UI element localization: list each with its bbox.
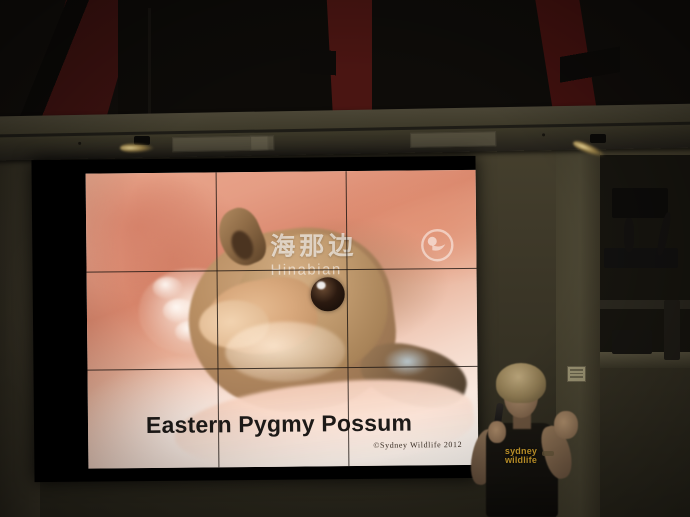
rail-screw bbox=[542, 133, 545, 136]
presenter-hair bbox=[496, 363, 546, 403]
rail-groove bbox=[0, 122, 690, 138]
lectern-post bbox=[664, 300, 680, 360]
track-light-head-icon bbox=[590, 134, 606, 143]
rail-screw bbox=[78, 142, 81, 145]
ceiling-conduit bbox=[148, 8, 151, 130]
slide-copyright: ©Sydney Wildlife 2012 bbox=[373, 440, 462, 450]
av-equipment-box bbox=[612, 188, 668, 218]
watermark-bird-icon bbox=[420, 228, 454, 262]
possum-photograph: 海那边 Hinabian Eastern Pygmy Possum ©Sydne… bbox=[86, 170, 479, 469]
projection-screen: 海那边 Hinabian Eastern Pygmy Possum ©Sydne… bbox=[31, 156, 478, 482]
rail-mount-plate bbox=[250, 135, 274, 150]
track-light-glow bbox=[120, 143, 154, 153]
av-equipment-box bbox=[604, 248, 678, 268]
photo-scene: 海那边 Hinabian Eastern Pygmy Possum ©Sydne… bbox=[0, 0, 690, 517]
speaker-box bbox=[612, 330, 652, 354]
presenter: sydney wildlife bbox=[468, 363, 588, 517]
rail-mount-plate bbox=[410, 131, 496, 148]
cable-loop bbox=[624, 218, 634, 252]
possum-eye-highlight bbox=[317, 281, 326, 289]
possum-eye bbox=[311, 277, 345, 311]
presenter-shirt-logo: sydney wildlife bbox=[496, 447, 546, 465]
finger bbox=[153, 277, 183, 299]
slide-title: Eastern Pygmy Possum bbox=[88, 409, 470, 440]
presenter-right-hand bbox=[554, 411, 578, 439]
presenter-wristwatch bbox=[542, 451, 554, 456]
presenter-left-hand bbox=[488, 421, 506, 443]
projected-slide: 海那边 Hinabian Eastern Pygmy Possum ©Sydne… bbox=[86, 170, 479, 469]
ceiling-truss bbox=[0, 0, 120, 132]
shirt-line-2: wildlife bbox=[496, 456, 546, 465]
